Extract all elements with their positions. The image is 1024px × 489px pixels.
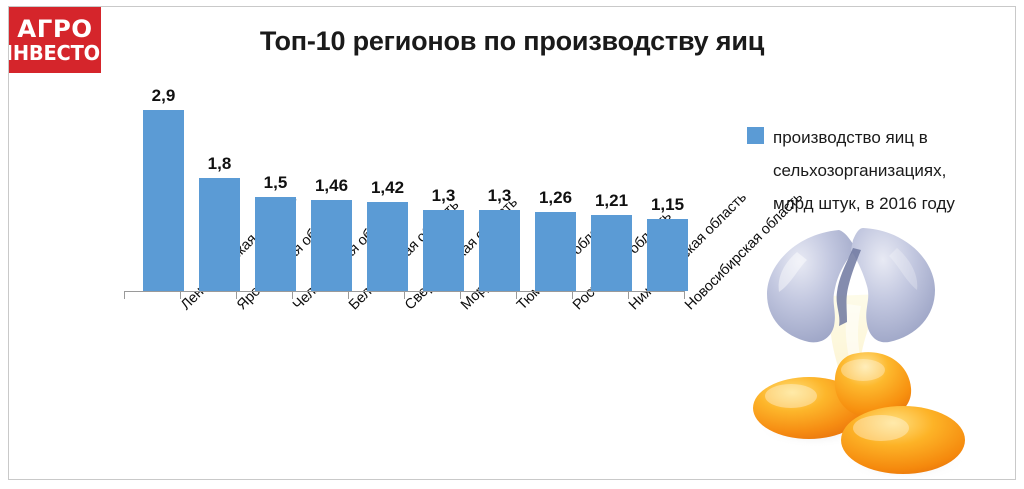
x-axis-tick-5 (348, 291, 349, 299)
x-axis-tick-2 (180, 291, 181, 299)
legend-color-swatch (747, 127, 764, 144)
bar-value-label-1: 2,9 (124, 86, 204, 106)
bar-value-label-10: 1,15 (628, 195, 708, 215)
yolk-right (841, 406, 965, 474)
legend-label-line-2: сельхозорганизациях, (773, 154, 1003, 187)
bar-6[interactable] (423, 210, 464, 291)
bar-5[interactable] (367, 202, 408, 291)
category-label-6: Мордовия (458, 302, 469, 313)
chart-screenshot: АГРО ИНВЕСТОР Топ-10 регионов по произво… (0, 0, 1024, 489)
bar-3[interactable] (255, 197, 296, 291)
x-axis-tick-9 (572, 291, 573, 299)
legend-label-line-1: производство яиц в (773, 121, 1003, 154)
category-label-3: Челябинская область (290, 302, 301, 313)
legend-label: производство яиц в сельхозорганизациях, … (773, 121, 1003, 220)
plot-area: 2,9Ленинградская область1,8Ярославская о… (0, 0, 700, 489)
x-axis-tick-4 (292, 291, 293, 299)
category-label-8: Ростовская область (570, 302, 581, 313)
bar-1[interactable] (143, 110, 184, 291)
yolk-center-gloss (841, 359, 885, 381)
x-axis-tick-6 (404, 291, 405, 299)
x-axis-tick-8 (516, 291, 517, 299)
x-axis-tick-7 (460, 291, 461, 299)
x-axis-tick-3 (236, 291, 237, 299)
legend-label-line-3: млрд штук, в 2016 году (773, 187, 1003, 220)
bar-value-label-2: 1,8 (180, 154, 260, 174)
bars-layer: 2,9Ленинградская область1,8Ярославская о… (0, 0, 700, 489)
bar-2[interactable] (199, 178, 240, 291)
category-label-7: Тюменская область (514, 302, 525, 313)
yolk-right-gloss (853, 415, 909, 441)
x-axis-tick-end (684, 291, 685, 299)
bar-9[interactable] (591, 215, 632, 291)
x-axis-tick-10 (628, 291, 629, 299)
bar-8[interactable] (535, 212, 576, 291)
x-axis-tick-1 (124, 291, 125, 299)
category-label-2: Ярославская область (234, 302, 245, 313)
bar-7[interactable] (479, 210, 520, 291)
bar-4[interactable] (311, 200, 352, 291)
category-label-10: Новосибирская область (682, 302, 693, 313)
cracked-egg-illustration (735, 218, 1015, 480)
category-label-5: Свердловская область (402, 302, 413, 313)
yolk-left-gloss (765, 384, 817, 408)
category-label-4: Белгородская область (346, 302, 357, 313)
category-label-9: Нижегородская область (626, 302, 637, 313)
bar-10[interactable] (647, 219, 688, 291)
category-label-1: Ленинградская область (178, 302, 189, 313)
